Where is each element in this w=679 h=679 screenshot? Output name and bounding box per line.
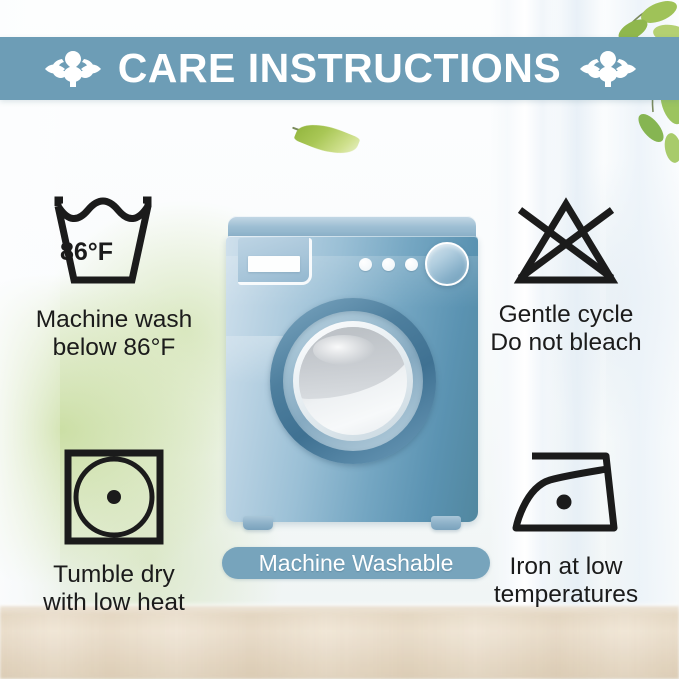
- care-item-do-not-bleach: Gentle cycle Do not bleach: [460, 196, 672, 358]
- fleur-de-lis-icon-left: [44, 47, 102, 91]
- machine-washable-badge: Machine Washable: [222, 547, 490, 579]
- care-instructions-graphic: CARE INSTRUCTIONS 86°F Machine w: [0, 0, 679, 679]
- triangle-crossed-icon: [506, 196, 626, 293]
- badge-label: Machine Washable: [259, 552, 454, 575]
- machine-door-highlight: [313, 335, 375, 365]
- machine-door-ring: [283, 311, 423, 451]
- care-item-machine-wash: 86°F Machine wash below 86°F: [8, 196, 220, 363]
- wash-temperature-value: 86°F: [60, 238, 113, 267]
- control-knob: [425, 242, 469, 286]
- machine-door-glass: [299, 327, 407, 435]
- fleur-de-lis-icon-right: [579, 47, 637, 91]
- machine-foot-left: [243, 516, 273, 530]
- care-caption-do-not-bleach: Gentle cycle Do not bleach: [490, 301, 641, 358]
- detergent-drawer-slot: [248, 256, 300, 272]
- care-caption-tumble-dry: Tumble dry with low heat: [43, 561, 185, 618]
- indicator-dot-3: [405, 258, 418, 271]
- care-item-iron: Iron at low temperatures: [460, 448, 672, 610]
- care-caption-iron: Iron at low temperatures: [494, 553, 638, 610]
- tumble-dry-icon: [63, 448, 165, 551]
- machine-door-rim: [293, 321, 413, 441]
- iron-icon: [506, 448, 626, 543]
- indicator-dot-1: [359, 258, 372, 271]
- machine-door: [270, 298, 436, 464]
- washing-machine-illustration: [226, 216, 478, 528]
- header-banner: CARE INSTRUCTIONS: [0, 37, 679, 100]
- care-item-tumble-dry: Tumble dry with low heat: [8, 448, 220, 618]
- machine-foot-right: [431, 516, 461, 530]
- table-wood-grain: [0, 612, 679, 679]
- page-title: CARE INSTRUCTIONS: [118, 48, 562, 89]
- care-caption-machine-wash: Machine wash below 86°F: [36, 306, 193, 363]
- indicator-dot-2: [382, 258, 395, 271]
